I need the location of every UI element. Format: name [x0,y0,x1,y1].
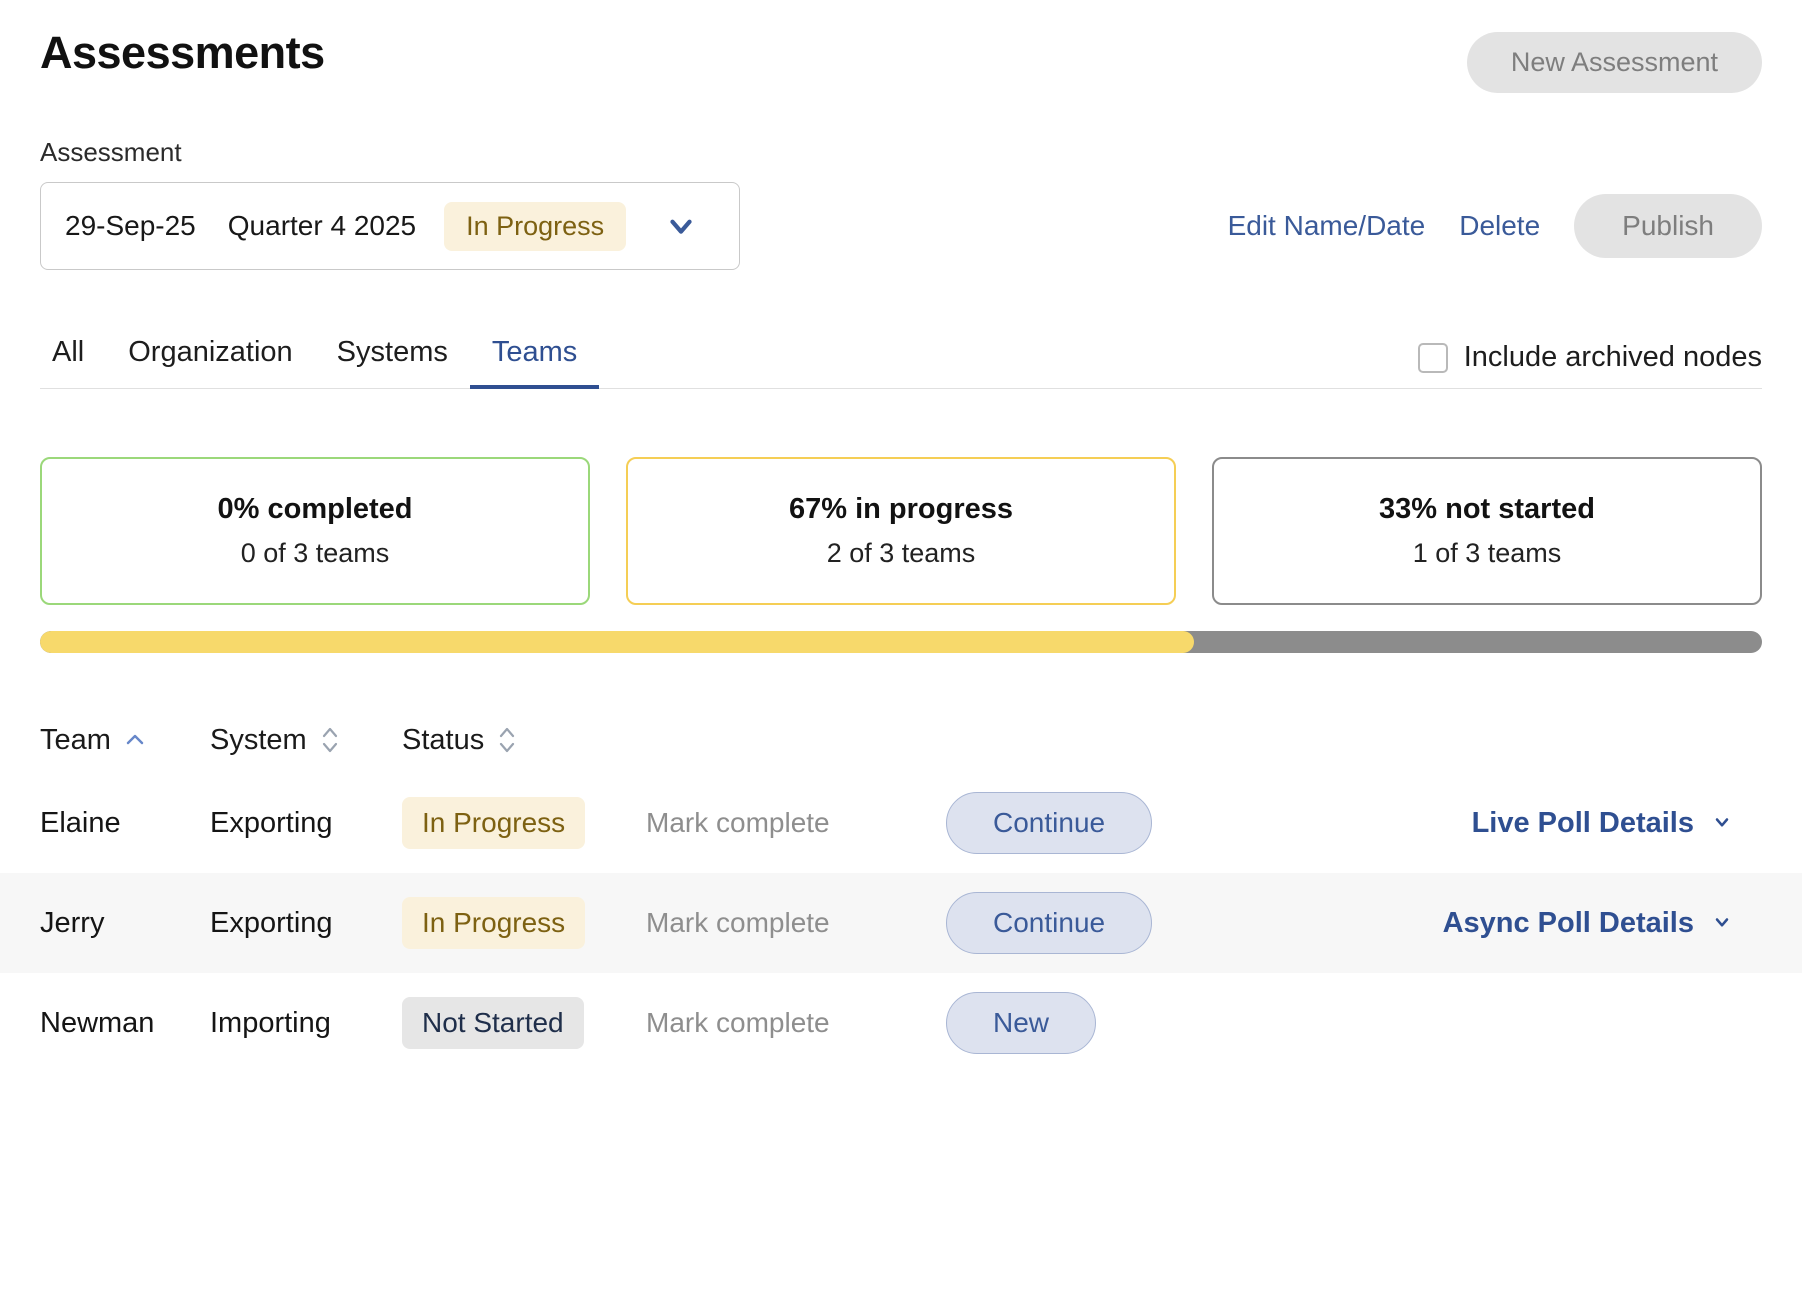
cell-status: In Progress [402,897,646,949]
mark-complete-link[interactable]: Mark complete [646,907,830,938]
column-header-system[interactable]: System [210,724,402,757]
tab-systems[interactable]: Systems [315,336,470,389]
sort-updown-icon[interactable] [496,724,518,756]
cell-mark-complete[interactable]: Mark complete [646,807,946,839]
card-completed-sub: 0 of 3 teams [241,538,390,569]
status-badge: Not Started [402,997,584,1049]
continue-button[interactable]: Continue [946,792,1152,854]
progress-bar-fill [40,631,1194,653]
card-in-progress-main: 67% in progress [789,493,1013,526]
cell-action: New [946,992,1214,1054]
cell-action: Continue [946,792,1214,854]
delete-link[interactable]: Delete [1459,210,1540,242]
include-archived-checkbox[interactable] [1418,343,1448,373]
assessment-select[interactable]: 29-Sep-25 Quarter 4 2025 In Progress [40,182,740,270]
page-header: Assessments New Assessment [40,0,1762,93]
cell-status: In Progress [402,797,646,849]
page-title: Assessments [40,28,325,78]
chevron-down-icon[interactable] [664,209,698,243]
cell-team: Jerry [40,907,210,940]
status-badge: In Progress [402,797,585,849]
teams-table: Team System Status Elain [40,707,1762,1073]
cell-mark-complete[interactable]: Mark complete [646,907,946,939]
async-poll-details-label: Async Poll Details [1443,907,1694,940]
continue-button[interactable]: Continue [946,892,1152,954]
tabs: All Organization Systems Teams [40,336,599,388]
assessment-status-badge: In Progress [444,202,626,251]
table-row: Elaine Exporting In Progress Mark comple… [0,773,1802,873]
card-completed: 0% completed 0 of 3 teams [40,457,590,605]
cell-team: Elaine [40,807,210,840]
card-not-started-sub: 1 of 3 teams [1413,538,1562,569]
card-not-started-main: 33% not started [1379,493,1595,526]
assessment-name: Quarter 4 2025 [228,210,416,242]
assessment-selector-row: 29-Sep-25 Quarter 4 2025 In Progress Edi… [40,182,1762,270]
include-archived-label: Include archived nodes [1464,341,1762,374]
tab-bar: All Organization Systems Teams Include a… [40,336,1762,389]
assessment-date: 29-Sep-25 [65,210,196,242]
async-poll-details-link[interactable]: Async Poll Details [1443,907,1736,940]
edit-name-date-link[interactable]: Edit Name/Date [1228,210,1426,242]
new-button[interactable]: New [946,992,1096,1054]
mark-complete-link[interactable]: Mark complete [646,807,830,838]
cell-system: Importing [210,1007,402,1040]
cell-action: Continue [946,892,1214,954]
cell-poll-details: Live Poll Details [1214,807,1762,840]
cell-system: Exporting [210,907,402,940]
cell-poll-details: Async Poll Details [1214,907,1762,940]
sort-ascending-icon[interactable] [123,731,147,749]
column-header-status-label: Status [402,724,484,757]
card-not-started: 33% not started 1 of 3 teams [1212,457,1762,605]
chevron-down-icon[interactable] [1708,907,1736,940]
cell-system: Exporting [210,807,402,840]
live-poll-details-link[interactable]: Live Poll Details [1472,807,1736,840]
new-assessment-button[interactable]: New Assessment [1467,32,1762,93]
card-completed-main: 0% completed [218,493,413,526]
cell-status: Not Started [402,997,646,1049]
table-row: Newman Importing Not Started Mark comple… [0,973,1802,1073]
tab-all[interactable]: All [40,336,106,389]
cell-team: Newman [40,1007,210,1040]
mark-complete-link[interactable]: Mark complete [646,1007,830,1038]
publish-button[interactable]: Publish [1574,194,1762,258]
live-poll-details-label: Live Poll Details [1472,807,1694,840]
table-row: Jerry Exporting In Progress Mark complet… [0,873,1802,973]
chevron-down-icon[interactable] [1708,807,1736,840]
column-header-system-label: System [210,724,307,757]
tab-organization[interactable]: Organization [106,336,314,389]
column-header-status[interactable]: Status [402,724,646,757]
tab-teams[interactable]: Teams [470,336,599,389]
assessment-actions: Edit Name/Date Delete Publish [1228,194,1762,258]
table-header-row: Team System Status [0,707,1802,773]
column-header-team[interactable]: Team [40,724,210,757]
include-archived-nodes[interactable]: Include archived nodes [1418,341,1762,388]
card-in-progress: 67% in progress 2 of 3 teams [626,457,1176,605]
sort-updown-icon[interactable] [319,724,341,756]
cell-mark-complete[interactable]: Mark complete [646,1007,946,1039]
summary-cards: 0% completed 0 of 3 teams 67% in progres… [40,457,1762,605]
progress-bar [40,631,1762,653]
card-in-progress-sub: 2 of 3 teams [827,538,976,569]
assessment-field-label: Assessment [40,137,1762,168]
assessments-page: Assessments New Assessment Assessment 29… [0,0,1802,1290]
column-header-team-label: Team [40,724,111,757]
status-badge: In Progress [402,897,585,949]
